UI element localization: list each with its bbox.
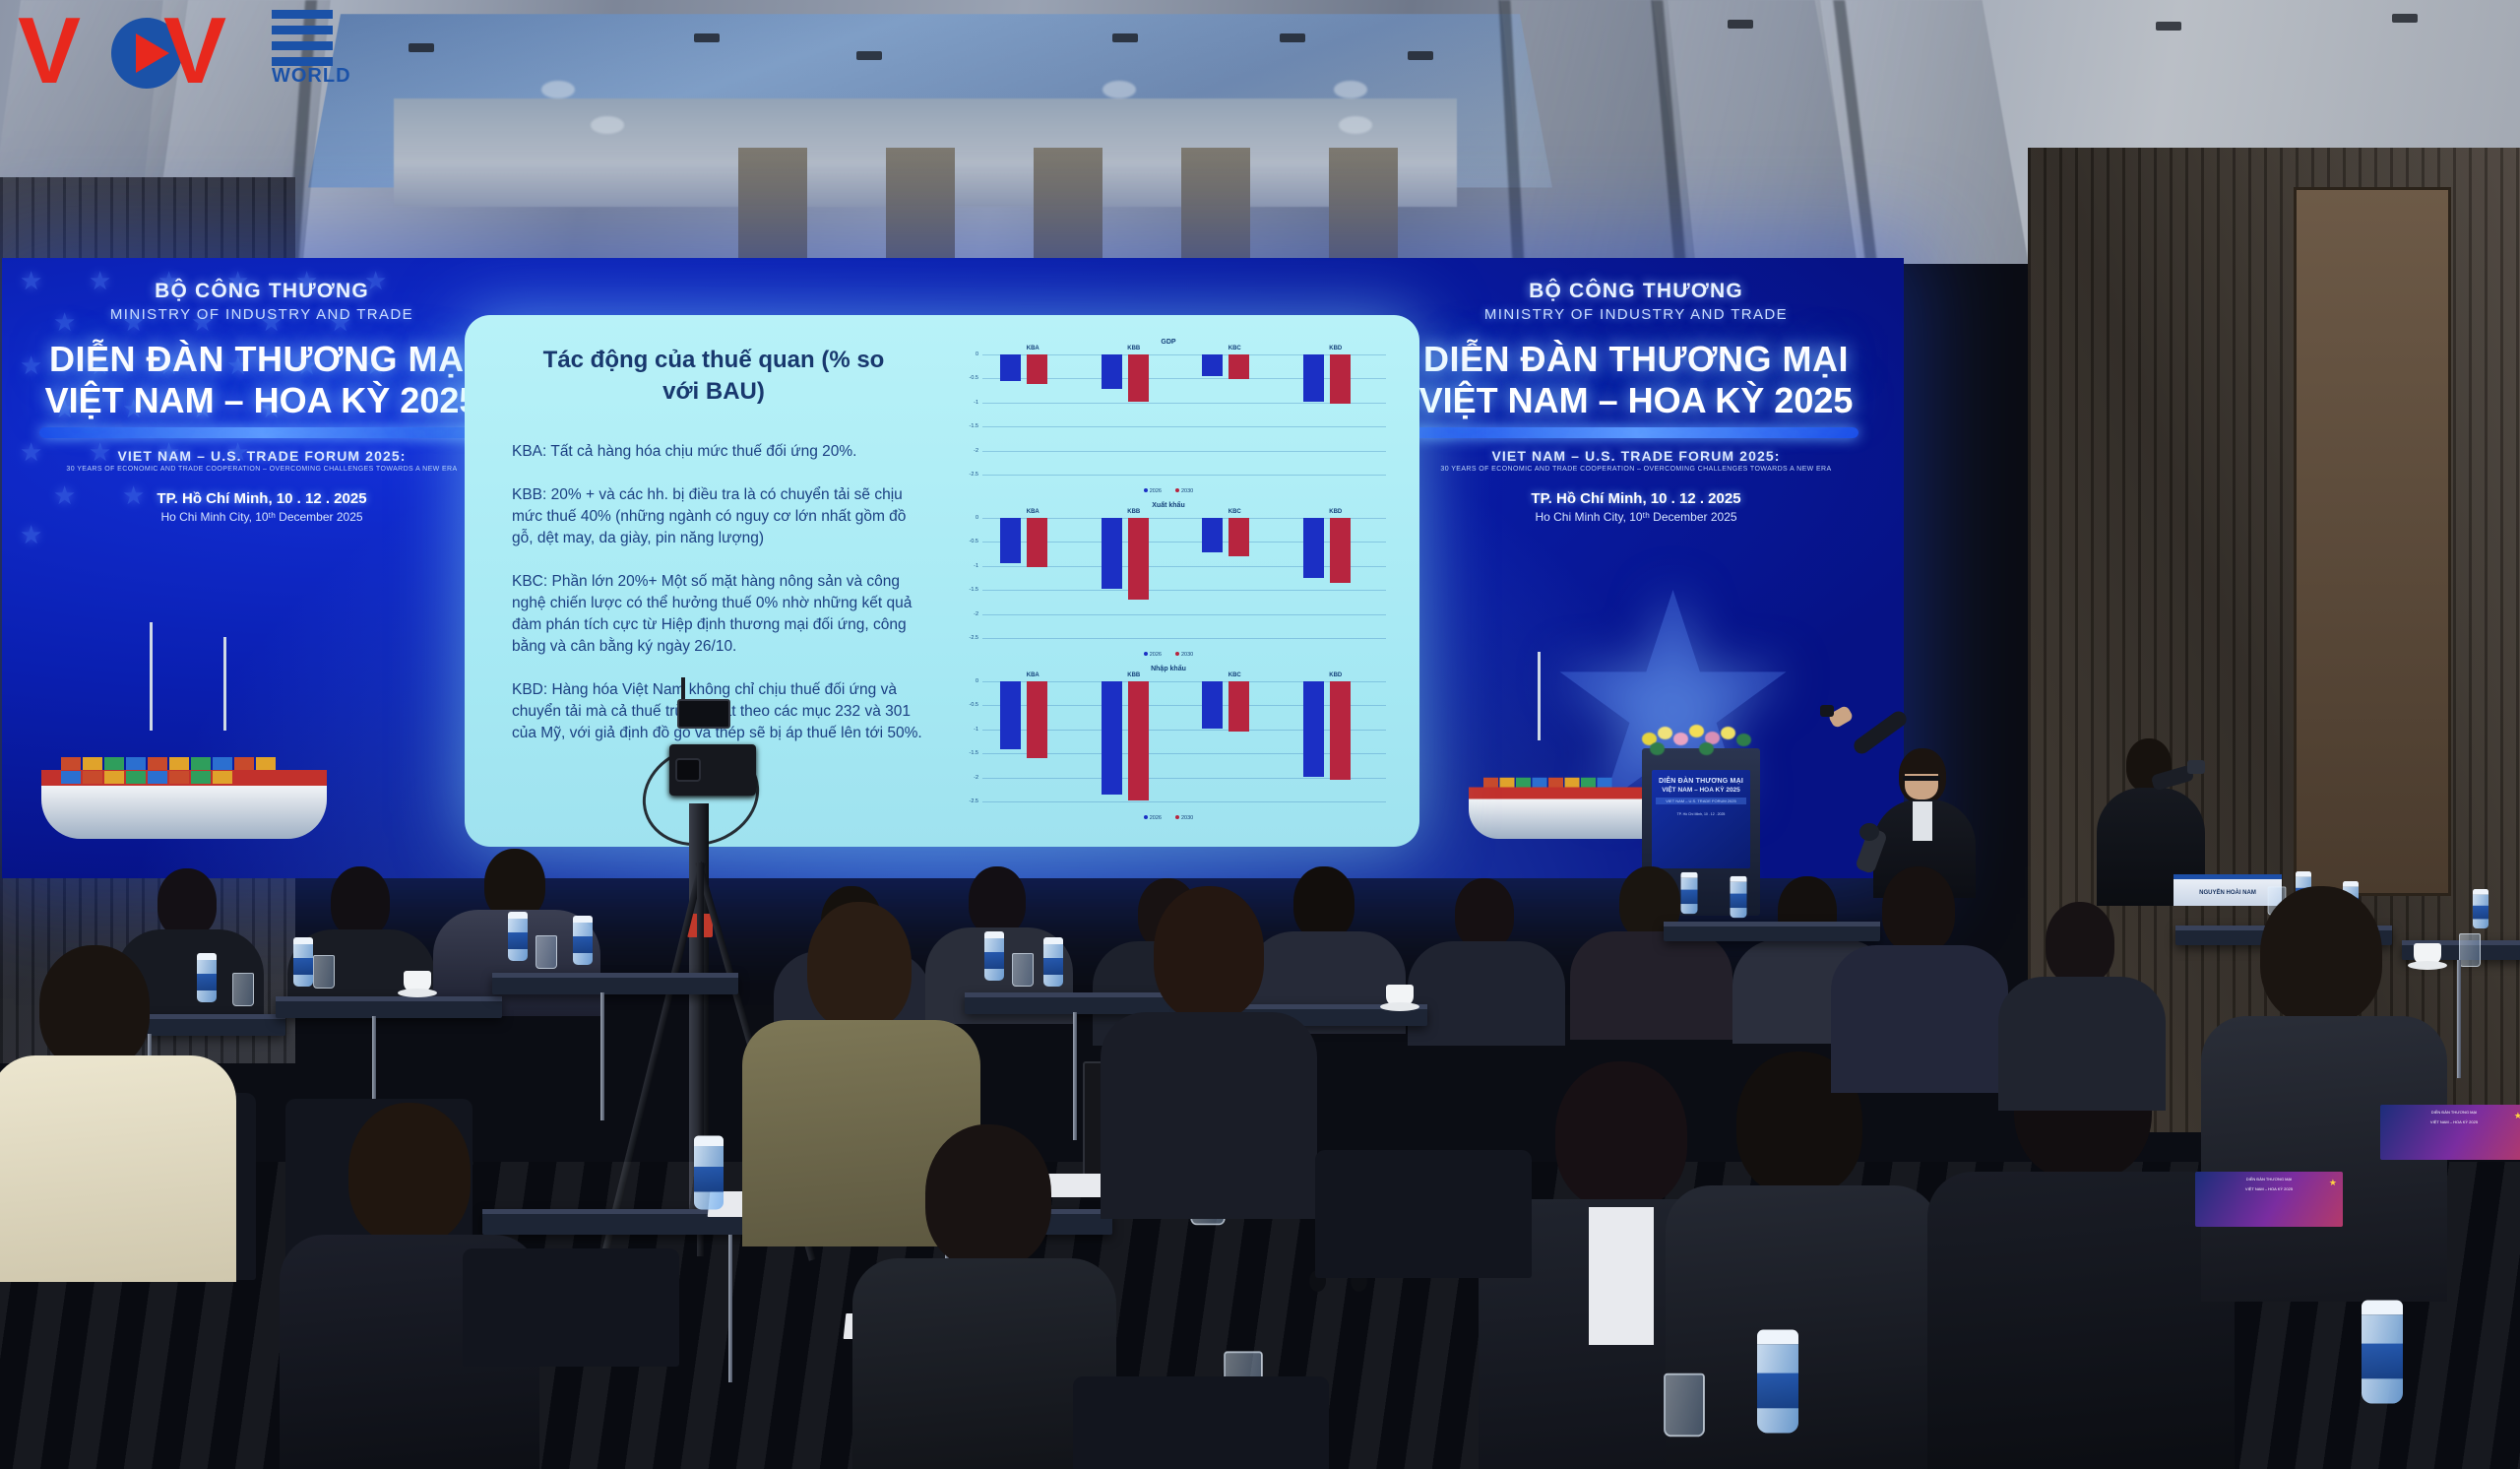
ceiling-light (2392, 14, 2418, 23)
table-leg (2457, 960, 2461, 1078)
water-bottle[interactable] (2473, 889, 2488, 928)
chart-bar (1228, 354, 1249, 379)
chart-bar (1027, 354, 1047, 384)
chart-category-group: KBC (1196, 681, 1273, 801)
ceiling-light (1728, 20, 1753, 29)
chart-plot-area: 0-0.5-1-1.5-2-2.5KBAKBBKBCKBD (982, 518, 1386, 638)
y-axis-tick-label: -1 (974, 563, 978, 569)
ministry-title-vi: BỘ CÔNG THƯƠNG (1400, 280, 1872, 303)
chart-category-label: KBD (1297, 509, 1374, 515)
podium-line4: TP. Hồ Chí Minh, 10 . 12 . 2025 (1656, 812, 1746, 816)
logo-bars (272, 10, 333, 67)
audience-person (1570, 866, 1732, 1039)
ceiling-light (1112, 33, 1138, 42)
port-crane (150, 622, 153, 731)
forum-date-vi: TP. Hồ Chí Minh, 10 . 12 . 2025 (1400, 490, 1872, 507)
presentation-slide: Tác động của thuế quan (% so với BAU) KB… (465, 315, 1419, 847)
chart-category-label: KBA (994, 509, 1071, 515)
y-axis-tick-label: -2 (974, 448, 978, 454)
forum-date-en: Ho Chi Minh City, 10ᵗʰ December 2025 (1400, 510, 1872, 524)
chart-bar (1027, 681, 1047, 758)
chart-legend-item: 2030 (1175, 815, 1193, 821)
ministry-title-vi: BỘ CÔNG THƯƠNG (26, 280, 498, 303)
chart-category-group: KBB (1096, 681, 1172, 801)
chart-panel: GDP0-0.5-1-1.5-2-2.5KBAKBBKBCKBD20262030 (947, 341, 1390, 496)
tentcard-line1: DIỄN ĐÀN THƯƠNG MẠI (2195, 1177, 2343, 1182)
tentcard-line2: VIỆT NAM – HOA KỲ 2025 (2195, 1186, 2343, 1191)
title-underline-bar (1414, 427, 1858, 438)
gridline: -2.5 (982, 638, 1386, 639)
slide-paragraph-kba: KBA: Tất cả hàng hóa chịu mức thuế đối ứ… (512, 441, 925, 463)
chart-bar (1202, 518, 1223, 552)
water-bottle[interactable] (984, 931, 1004, 981)
ceiling-light (409, 43, 434, 52)
chart-bar (1303, 681, 1324, 777)
gridline: -2.5 (982, 801, 1386, 802)
saucer (1380, 1002, 1419, 1011)
table-leg (728, 1235, 732, 1382)
chart-bar (1102, 518, 1122, 589)
chart-bar (1330, 518, 1351, 583)
y-axis-tick-label: -2.5 (970, 798, 978, 804)
chart-bar (1228, 681, 1249, 732)
forum-subtitle-en2: 30 YEARS OF ECONOMIC AND TRADE COOPERATI… (1400, 466, 1872, 473)
camera-monitor (677, 699, 730, 729)
drinking-glass[interactable] (232, 973, 254, 1006)
audience-person (1408, 878, 1565, 1046)
camera-microphone (681, 677, 685, 699)
y-axis-tick-label: -1.5 (970, 587, 978, 593)
chair-back[interactable] (463, 1248, 679, 1367)
chart-category-label: KBD (1297, 672, 1374, 678)
camera-lens (675, 758, 701, 782)
ceiling-wall-panel (1329, 148, 1398, 264)
chart-bar (1303, 354, 1324, 402)
y-axis-tick-label: -2.5 (970, 472, 978, 478)
ceiling-downlight (591, 116, 624, 134)
chart-bar (1202, 681, 1223, 729)
chair-back[interactable] (1315, 1150, 1532, 1278)
chart-category-group: KBD (1297, 518, 1374, 638)
chart-bar (1000, 681, 1021, 749)
chart-category-group: KBD (1297, 681, 1374, 801)
container-ship-graphic-left (41, 770, 327, 839)
podium-branding-panel: DIỄN ĐÀN THƯƠNG MẠI VIỆT NAM – HOA KỲ 20… (1652, 770, 1750, 868)
y-axis-tick-label: 0 (976, 678, 978, 684)
chart-bar (1228, 518, 1249, 556)
ceiling-downlight (1334, 81, 1367, 98)
eyeglasses (1903, 776, 1940, 781)
audience-person-foreground (2201, 886, 2447, 1300)
audience-person-foreground (1101, 886, 1317, 1211)
y-axis-tick-label: -2 (974, 775, 978, 781)
chart-bar (1102, 681, 1122, 795)
water-bottle[interactable] (2362, 1301, 2403, 1404)
water-bottle[interactable] (1043, 937, 1063, 987)
side-door[interactable] (2294, 187, 2451, 896)
chart-panel-title: Nhập khẩu (947, 666, 1390, 672)
drinking-glass[interactable] (1664, 1373, 1705, 1437)
water-bottle[interactable] (573, 916, 593, 965)
forum-date-vi: TP. Hồ Chí Minh, 10 . 12 . 2025 (26, 490, 498, 507)
chart-legend-item: 2026 (1144, 488, 1162, 494)
chart-bar (1303, 518, 1324, 578)
y-axis-tick-label: -0.5 (970, 375, 978, 381)
led-stage-screen: ★★ ★★ ★★ ★★ ★★ ★ ★★ ★★ ★★ ★★ ★★ ★★ ★★ ★★… (2, 258, 1904, 878)
chart-legend-item: 2026 (1144, 815, 1162, 821)
audience-person (1998, 902, 2166, 1109)
chart-legend: 20262030 (947, 815, 1390, 821)
chart-category-label: KBA (994, 346, 1071, 351)
chart-legend-item: 2030 (1175, 488, 1193, 494)
chair-back[interactable] (1073, 1376, 1329, 1469)
chart-bar (1128, 354, 1149, 402)
table-leg (1073, 1012, 1077, 1140)
vov-world-logo-watermark: V V WORLD (18, 4, 343, 89)
y-axis-tick-label: 0 (976, 515, 978, 521)
y-axis-tick-label: -0.5 (970, 702, 978, 708)
ceiling-wall-panel (738, 148, 807, 264)
audience-person-foreground-left (0, 945, 226, 1270)
water-bottle[interactable] (293, 937, 313, 987)
title-underline-bar (39, 427, 484, 438)
chart-legend-item: 2030 (1175, 652, 1193, 658)
y-axis-tick-label: -1.5 (970, 750, 978, 756)
forum-subtitle-en2: 30 YEARS OF ECONOMIC AND TRADE COOPERATI… (26, 466, 498, 473)
drinking-glass[interactable] (313, 955, 335, 989)
banner-left: BỘ CÔNG THƯƠNG MINISTRY OF INDUSTRY AND … (26, 280, 498, 524)
water-bottle[interactable] (1757, 1330, 1798, 1434)
slide-paragraph-kbc: KBC: Phần lớn 20%+ Một số mặt hàng nông … (512, 571, 925, 658)
forum-subtitle-en: VIET NAM – U.S. TRADE FORUM 2025: (1400, 448, 1872, 464)
y-axis-tick-label: -2.5 (970, 635, 978, 641)
smartphone (2187, 760, 2205, 774)
forum-title-line1: DIỄN ĐÀN THƯƠNG MẠI (1400, 339, 1872, 380)
y-axis-tick-label: -1.5 (970, 423, 978, 429)
ministry-title-en: MINISTRY OF INDUSTRY AND TRADE (1400, 306, 1872, 323)
chart-panel: Nhập khẩu0-0.5-1-1.5-2-2.5KBAKBBKBCKBD20… (947, 668, 1390, 823)
chart-category-label: KBB (1096, 346, 1172, 351)
forum-subtitle-en: VIET NAM – U.S. TRADE FORUM 2025: (26, 448, 498, 464)
laser-pointer (1820, 705, 1834, 717)
conference-room-photo: ★★ ★★ ★★ ★★ ★★ ★ ★★ ★★ ★★ ★★ ★★ ★★ ★★ ★★… (0, 0, 2520, 1469)
chart-bar (1202, 354, 1223, 376)
chart-bar (1128, 518, 1149, 600)
ceiling-downlight (1339, 116, 1372, 134)
chart-legend: 20262030 (947, 652, 1390, 658)
chart-category-group: KBA (994, 354, 1071, 475)
chart-category-label: KBC (1196, 346, 1273, 351)
forum-title-line1: DIỄN ĐÀN THƯƠNG MẠI (26, 339, 498, 380)
chart-plot-area: 0-0.5-1-1.5-2-2.5KBAKBBKBCKBD (982, 354, 1386, 475)
chart-category-group: KBB (1096, 518, 1172, 638)
logo-letter-v2: V (163, 4, 220, 98)
table-tent-card: DIỄN ĐÀN THƯƠNG MẠI VIỆT NAM – HOA KỲ 20… (2380, 1105, 2520, 1160)
ceiling-wall-panel (1034, 148, 1102, 264)
audience-side-table (492, 973, 738, 994)
chart-bar (1330, 354, 1351, 404)
water-bottle[interactable] (508, 912, 528, 961)
star-icon: ★ (2514, 1111, 2520, 1121)
podium-line1: DIỄN ĐÀN THƯƠNG MẠI (1656, 778, 1746, 785)
y-axis-tick-label: -1 (974, 400, 978, 406)
drinking-glass[interactable] (2459, 933, 2481, 967)
gridline: -2.5 (982, 475, 1386, 476)
chart-bar (1330, 681, 1351, 780)
ceiling-light (694, 33, 720, 42)
chart-panel-title: Xuất khẩu (947, 502, 1390, 509)
port-crane (223, 637, 226, 731)
podium-line2: VIỆT NAM – HOA KỲ 2025 (1656, 787, 1746, 794)
tentcard-line2: VIỆT NAM – HOA KỲ 2025 (2380, 1119, 2520, 1124)
logo-world-text: WORLD (272, 65, 351, 88)
podium-line3: VIET NAM – U.S. TRADE FORUM 2025 (1656, 798, 1746, 804)
y-axis-tick-label: 0 (976, 351, 978, 357)
chart-legend-item: 2026 (1144, 652, 1162, 658)
chart-bar (1000, 354, 1021, 381)
video-camera (669, 744, 756, 796)
chart-category-group: KBB (1096, 354, 1172, 475)
drinking-glass[interactable] (535, 935, 557, 969)
y-axis-tick-label: -1 (974, 727, 978, 733)
water-bottle[interactable] (1731, 876, 1747, 919)
forum-date-en: Ho Chi Minh City, 10ᵗʰ December 2025 (26, 510, 498, 524)
water-bottle[interactable] (1681, 872, 1698, 915)
y-axis-tick-label: -0.5 (970, 539, 978, 544)
chart-category-group: KBA (994, 681, 1071, 801)
ceiling-wall-panel (886, 148, 955, 264)
chart-bar (1000, 518, 1021, 563)
ceiling-light (856, 51, 882, 60)
ceiling-light (1280, 33, 1305, 42)
flower-arrangement (1638, 721, 1764, 754)
audience-side-table (276, 996, 502, 1018)
saucer (398, 989, 437, 997)
chart-category-label: KBB (1096, 672, 1172, 678)
chart-category-label: KBD (1297, 346, 1374, 351)
table-tent-card: DIỄN ĐÀN THƯƠNG MẠI VIỆT NAM – HOA KỲ 20… (2195, 1172, 2343, 1227)
chart-category-group: KBA (994, 518, 1071, 638)
table-leg (600, 992, 604, 1120)
chart-category-label: KBA (994, 672, 1071, 678)
ceiling-wall-panel (1181, 148, 1250, 264)
water-bottle[interactable] (694, 1136, 724, 1210)
chart-legend: 20262030 (947, 488, 1390, 494)
ceiling-downlight (541, 81, 575, 98)
port-crane (1538, 652, 1541, 740)
ceiling-downlight (1102, 81, 1136, 98)
drinking-glass[interactable] (1012, 953, 1034, 987)
banner-right: BỘ CÔNG THƯƠNG MINISTRY OF INDUSTRY AND … (1400, 280, 1872, 524)
audience-person (1831, 866, 2008, 1093)
chart-plot-area: 0-0.5-1-1.5-2-2.5KBAKBBKBCKBD (982, 681, 1386, 801)
chart-bar (1102, 354, 1122, 389)
ministry-title-en: MINISTRY OF INDUSTRY AND TRADE (26, 306, 498, 323)
chart-panel-title: GDP (947, 339, 1390, 346)
forum-title-line2: VIỆT NAM – HOA KỲ 2025 (26, 380, 498, 421)
chart-category-label: KBC (1196, 672, 1273, 678)
chart-category-label: KBC (1196, 509, 1273, 515)
ceiling-light (1408, 51, 1433, 60)
audience-person-foreground (1673, 1052, 1929, 1469)
slide-chart-group: GDP0-0.5-1-1.5-2-2.5KBAKBBKBCKBD20262030… (947, 341, 1390, 833)
slide-title: Tác động của thuế quan (% so với BAU) (522, 345, 906, 409)
chart-category-group: KBC (1196, 354, 1273, 475)
chart-category-label: KBB (1096, 509, 1172, 515)
slide-paragraph-kbb: KBB: 20% + và các hh. bị điều tra là có … (512, 484, 925, 549)
chart-category-group: KBC (1196, 518, 1273, 638)
forum-title-line2: VIỆT NAM – HOA KỲ 2025 (1400, 380, 1872, 421)
chart-bar (1128, 681, 1149, 800)
star-icon: ★ (2329, 1178, 2337, 1188)
ceiling-light (2156, 22, 2181, 31)
logo-letter-v1: V (18, 4, 75, 98)
y-axis-tick-label: -2 (974, 611, 978, 617)
chart-panel: Xuất khẩu0-0.5-1-1.5-2-2.5KBAKBBKBCKBD20… (947, 504, 1390, 660)
tentcard-line1: DIỄN ĐÀN THƯƠNG MẠI (2380, 1110, 2520, 1115)
chart-category-group: KBD (1297, 354, 1374, 475)
chart-bar (1027, 518, 1047, 567)
